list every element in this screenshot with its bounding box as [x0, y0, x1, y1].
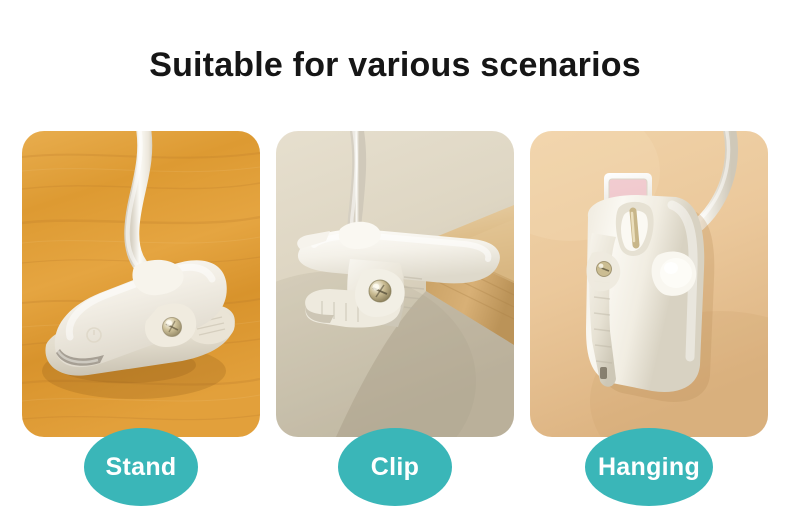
scenario-panel-row: Stand — [22, 131, 768, 506]
scenario-panel-stand[interactable]: Stand — [22, 131, 260, 437]
photo-clip — [276, 131, 514, 437]
badge-hanging[interactable]: Hanging — [585, 428, 713, 506]
page-title: Suitable for various scenarios — [0, 44, 790, 86]
badge-label-stand: Stand — [106, 453, 177, 481]
badge-label-clip: Clip — [371, 453, 419, 481]
infographic-root: Suitable for various scenarios — [0, 0, 790, 531]
photo-hanging — [530, 131, 768, 437]
badge-label-hanging: Hanging — [598, 453, 700, 481]
scenario-panel-clip[interactable]: Clip — [276, 131, 514, 437]
badge-clip[interactable]: Clip — [338, 428, 452, 506]
photo-stand — [22, 131, 260, 437]
badge-stand[interactable]: Stand — [84, 428, 198, 506]
scenario-panel-hanging[interactable]: Hanging — [530, 131, 768, 437]
